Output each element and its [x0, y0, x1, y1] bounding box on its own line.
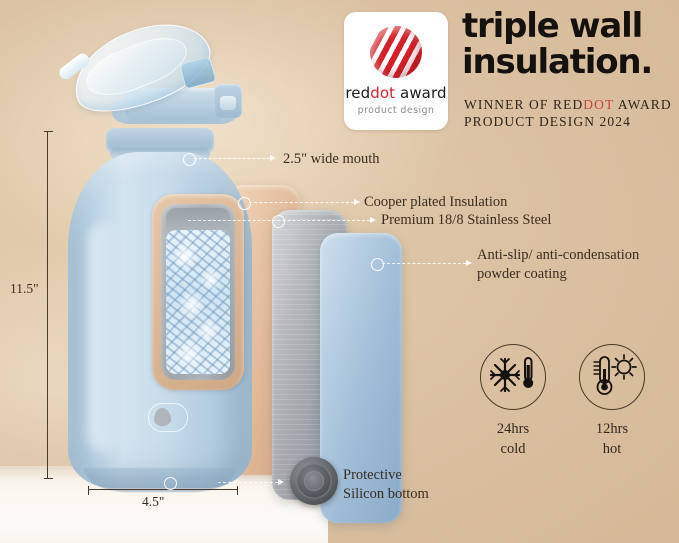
header-block: reddot award product design triple wall …	[344, 8, 674, 136]
water-bottle-product	[66, 108, 256, 490]
page-title: triple wall insulation.	[462, 8, 652, 80]
callout-line-silicon	[218, 482, 278, 483]
feature-cold: 24hrs cold	[477, 344, 549, 459]
snowflake-thermometer-icon	[480, 344, 546, 410]
width-dimension-label: 4.5"	[142, 494, 164, 510]
callout-arrow-wide-mouth	[270, 155, 276, 161]
reddot-sphere-icon	[370, 26, 422, 78]
winner-line1-pre: WINNER OF RED	[464, 97, 583, 112]
feature-hot-label: 12hrs hot	[576, 419, 648, 459]
reddot-name-prefix: red	[345, 84, 370, 102]
winner-line2: PRODUCT DESIGN 2024	[464, 114, 631, 129]
callout-line-copper	[249, 202, 354, 203]
callout-label-copper: Cooper plated Insulation	[364, 193, 507, 212]
callout-label-steel: Premium 18/8 Stainless Steel	[381, 211, 551, 230]
height-dimension-label: 11.5"	[10, 281, 39, 297]
callout-line-wide-mouth	[194, 158, 270, 159]
width-dimension-line	[88, 489, 238, 490]
feature-cold-label: 24hrs cold	[477, 419, 549, 459]
thermometer-sun-icon	[579, 344, 645, 410]
droplet-shape	[154, 408, 172, 427]
reddot-name-suffix: award	[395, 84, 446, 102]
height-dimension-line	[47, 131, 48, 479]
silicon-bottom-puck-icon	[290, 457, 338, 505]
callout-label-coating: Anti-slip/ anti-condensation powder coat…	[477, 246, 639, 284]
callout-arrow-steel	[370, 217, 376, 223]
callout-dot-copper	[238, 197, 251, 210]
reddot-award-subtitle: product design	[344, 105, 448, 116]
callout-dot-coating	[371, 258, 384, 271]
reddot-name-highlight: dot	[370, 84, 395, 102]
reddot-award-name: reddot award	[344, 84, 448, 102]
feature-hot: 12hrs hot	[576, 344, 648, 459]
water-droplet-icon	[148, 403, 188, 432]
bottle-highlight	[88, 222, 122, 452]
callout-dot-silicon	[164, 477, 177, 490]
callout-label-silicon: Protective Silicon bottom	[343, 466, 429, 504]
callout-dot-steel	[272, 215, 285, 228]
callout-arrow-copper	[354, 199, 360, 205]
window-steel-wall	[161, 204, 235, 380]
award-winner-text: WINNER OF REDDOT AWARD PRODUCT DESIGN 20…	[464, 96, 672, 130]
cap-hinge	[214, 84, 242, 118]
callout-arrow-silicon	[278, 479, 284, 485]
reddot-award-badge: reddot award product design	[344, 12, 448, 130]
winner-line1-highlight: DOT	[583, 97, 614, 112]
cutaway-ice-window-icon	[152, 194, 244, 390]
callout-label-wide-mouth: 2.5" wide mouth	[283, 150, 380, 169]
callout-dot-wide-mouth	[183, 153, 196, 166]
ice-fill	[166, 230, 230, 374]
callout-line-steel	[188, 220, 370, 221]
winner-line1-post: AWARD	[614, 97, 672, 112]
callout-line-coating	[382, 263, 466, 264]
product-infographic: 11.5" 4.5" 2.5" wide mouth Cooper plated…	[0, 0, 679, 543]
callout-arrow-coating	[466, 260, 472, 266]
